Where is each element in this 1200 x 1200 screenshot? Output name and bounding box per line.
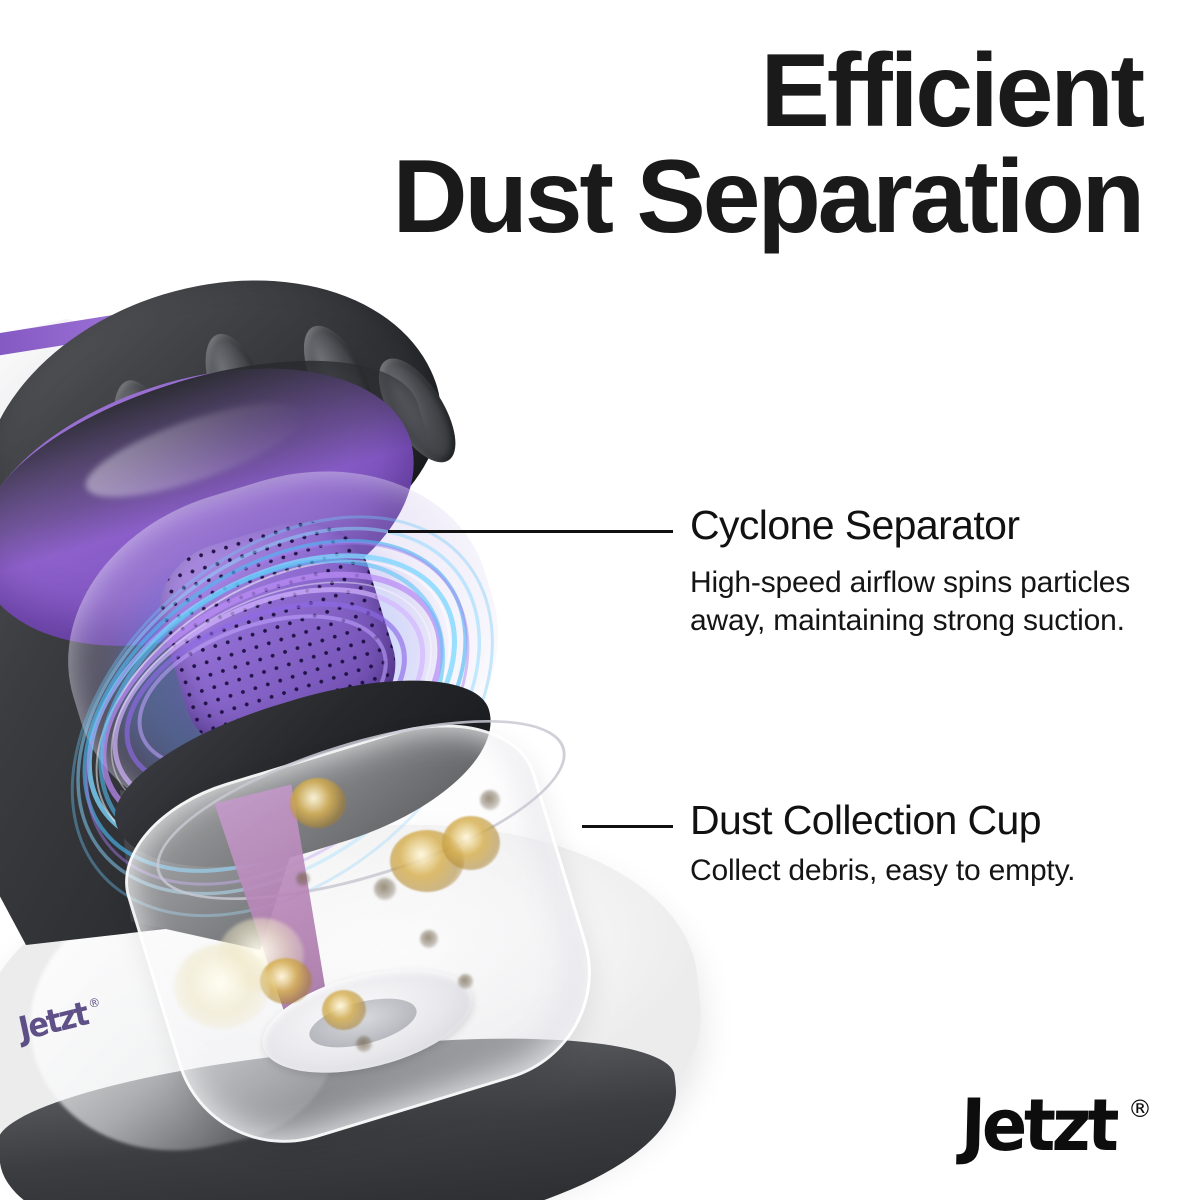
callout-body: Collect debris, easy to empty.: [690, 852, 1160, 890]
brand-name: Jetzt: [960, 1093, 1116, 1158]
page-title: Efficient Dust Separation: [393, 38, 1142, 250]
callout-dust-collection-cup: Dust Collection Cup Collect debris, easy…: [690, 798, 1160, 890]
headline-line-2: Dust Separation: [393, 144, 1142, 250]
callout-body: High-speed airflow spins particles away,…: [690, 564, 1160, 640]
registered-trademark-icon: ®: [1128, 1097, 1152, 1121]
callout-title: Cyclone Separator: [690, 503, 1160, 547]
brand-logo: Jetzt ®: [960, 1093, 1152, 1158]
leader-line-cyclone-separator: [388, 530, 673, 533]
product-feature-graphic: Jetzt ® Efficient Dust Separation Cyclon…: [0, 0, 1200, 1200]
callout-title: Dust Collection Cup: [690, 798, 1160, 842]
callout-cyclone-separator: Cyclone Separator High-speed airflow spi…: [690, 503, 1160, 640]
leader-line-dust-collection-cup: [582, 825, 673, 828]
headline-line-1: Efficient: [393, 38, 1142, 144]
product-illustration: Jetzt ®: [0, 230, 720, 1200]
